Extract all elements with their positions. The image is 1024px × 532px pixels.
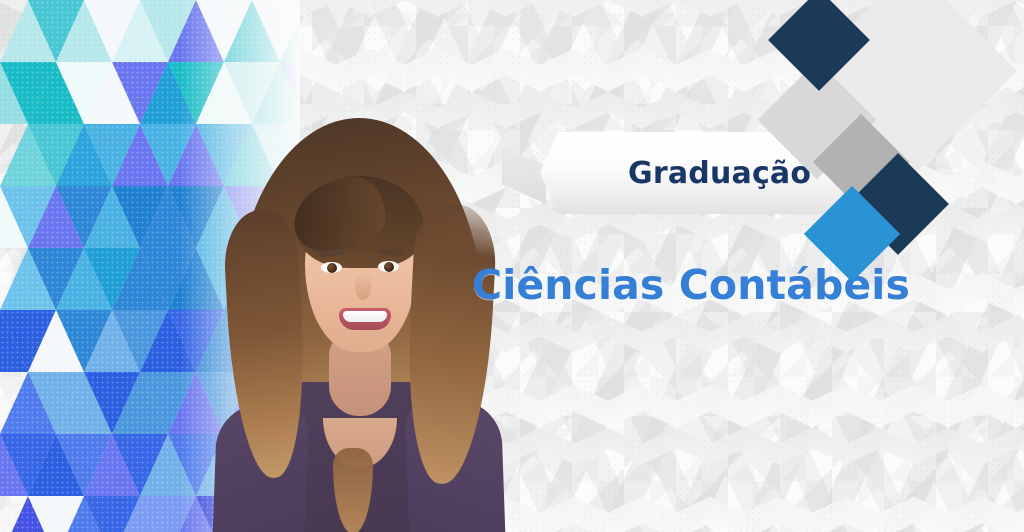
eye-right — [378, 261, 399, 272]
eye-left — [321, 262, 342, 273]
teeth — [343, 311, 387, 322]
promotional-banner: Graduação Ciências Contábeis — [0, 0, 1024, 532]
pupil-right — [384, 262, 394, 272]
mouth — [339, 308, 391, 330]
nose — [355, 274, 371, 300]
pupil-left — [327, 263, 337, 273]
ribbon-label: Graduação — [628, 156, 811, 191]
student-photo — [213, 118, 505, 532]
